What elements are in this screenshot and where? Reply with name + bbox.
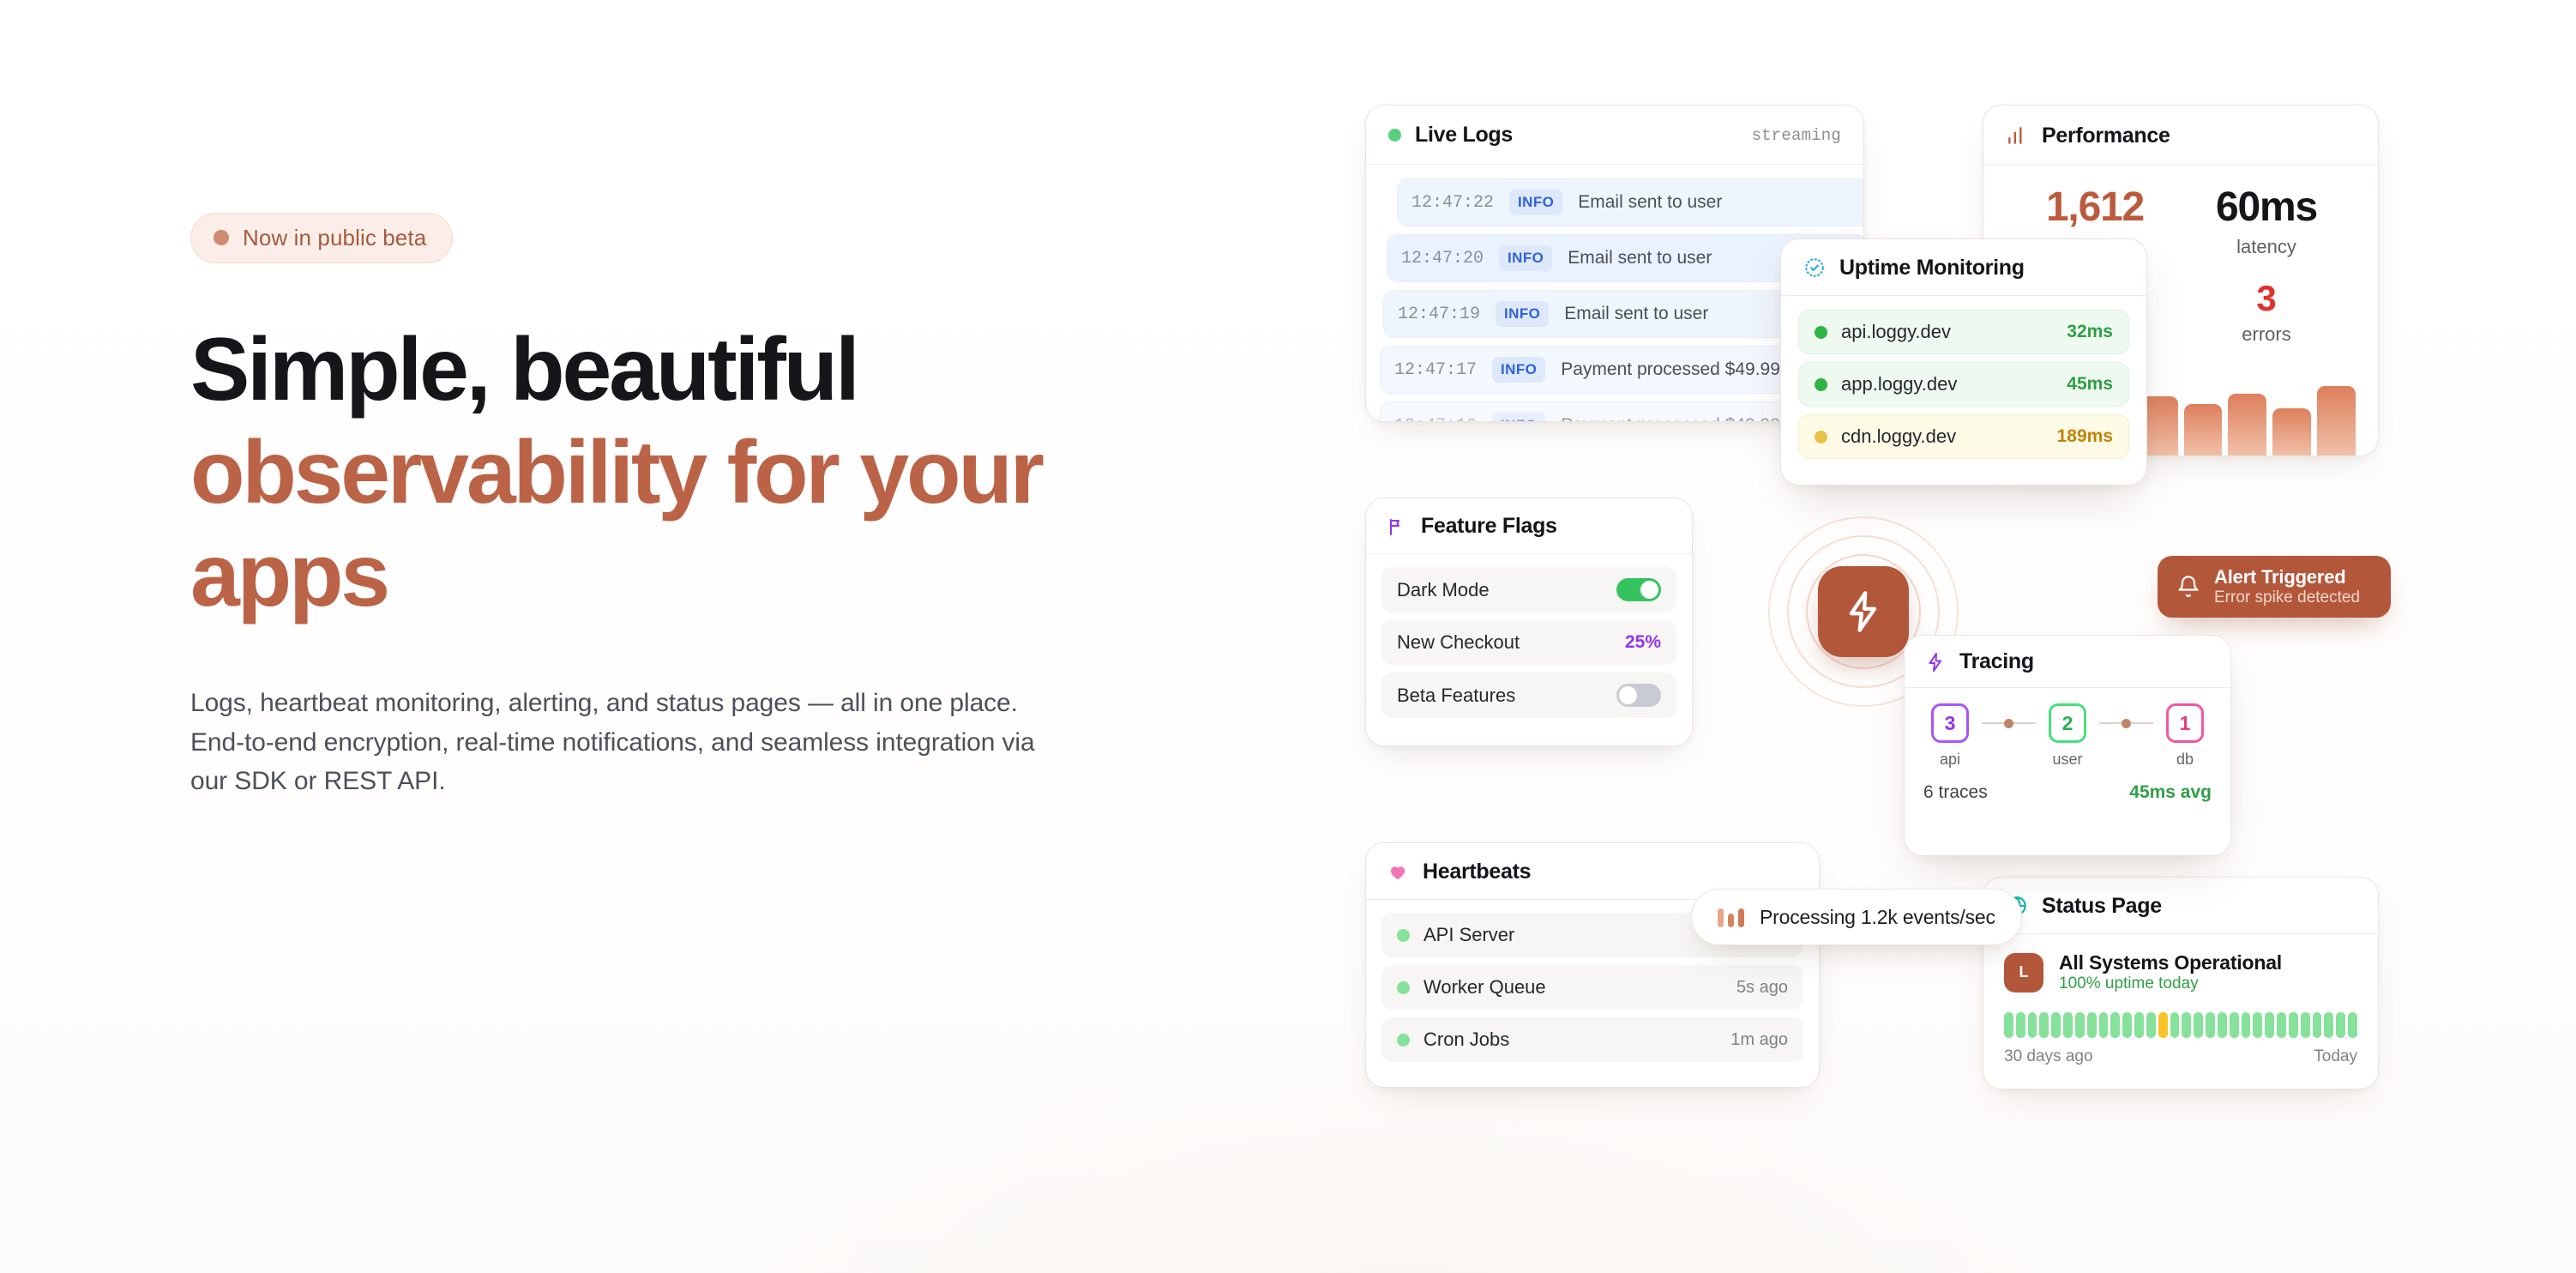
uptime-history-bar [2324, 1012, 2333, 1038]
feature-flag-name: Dark Mode [1397, 579, 1490, 601]
hero-stage: Now in public beta Simple, beautiful obs… [0, 0, 2576, 1273]
trace-node[interactable]: 1 db [2158, 703, 2212, 769]
feature-flags-card: Feature Flags Dark Mode New Checkout 25%… [1365, 498, 1693, 746]
uptime-history-bar [2004, 1012, 2013, 1038]
log-timestamp: 12:47:19 [1398, 305, 1480, 324]
bar-chart-icon [2006, 124, 2028, 147]
log-level-badge: INFO [1509, 190, 1562, 215]
tracing-body: 3 api 2 user 1 db 6 traces 45ms avg [1905, 688, 2230, 817]
lightning-bolt-icon [1818, 566, 1909, 657]
performance-bar [2272, 408, 2311, 456]
tracing-footer: 6 traces 45ms avg [1923, 782, 2212, 803]
heartbeats-card: Heartbeats API Server Worker Queue 5s ag… [1365, 842, 1820, 1088]
heartbeat-name: Worker Queue [1423, 976, 1546, 998]
feature-flag-row[interactable]: Dark Mode [1381, 567, 1676, 612]
flag-icon [1387, 516, 1407, 537]
log-level-badge: INFO [1496, 301, 1549, 327]
errors-label: errors [2181, 323, 2352, 346]
uptime-history-bar [2063, 1012, 2073, 1038]
uptime-history-bar [2028, 1012, 2037, 1038]
lightning-bolt-icon [1925, 652, 1946, 673]
uptime-host: cdn.loggy.dev [1841, 425, 1956, 448]
live-logs-title: Live Logs [1415, 124, 1513, 146]
uptime-latency: 45ms [2067, 374, 2113, 395]
status-dot-icon [1815, 431, 1827, 443]
bell-icon [2176, 575, 2200, 599]
tracing-header: Tracing [1905, 636, 2230, 688]
uptime-history-bar [2289, 1012, 2298, 1038]
trace-connector [1977, 703, 2041, 743]
log-message: Payment processed $49.99 [1561, 359, 1780, 380]
heartbeat-name: API Server [1423, 924, 1514, 946]
uptime-history-bars [2004, 1012, 2357, 1038]
log-message: Payment processed $49.99 [1561, 415, 1780, 422]
feature-flags-body: Dark Mode New Checkout 25% Beta Features [1366, 554, 1692, 739]
range-start: 30 days ago [2004, 1047, 2093, 1066]
status-range: 30 days ago Today [2004, 1047, 2357, 1066]
status-page-header: Status Page [1983, 878, 2378, 934]
equalizer-icon [1718, 907, 1744, 927]
performance-latency: 60ms latency 3 errors [2181, 186, 2352, 346]
trace-node-label: db [2176, 751, 2194, 769]
headline-line-1: Simple, beautiful [190, 325, 1202, 414]
heart-icon [1387, 860, 1409, 883]
status-page-card: Status Page L All Systems Operational 10… [1983, 877, 2379, 1089]
hero-subcopy: Logs, heartbeat monitoring, alerting, an… [190, 684, 1074, 801]
beta-features-toggle[interactable] [1616, 684, 1661, 707]
uptime-row[interactable]: app.loggy.dev 45ms [1798, 362, 2129, 407]
uptime-history-bar [2242, 1012, 2251, 1038]
uptime-history-bar [2182, 1012, 2191, 1038]
uptime-history-bar [2110, 1012, 2120, 1038]
headline-line-3: apps [190, 531, 1202, 620]
uptime-history-bar [2039, 1012, 2049, 1038]
hero-left-column: Now in public beta Simple, beautiful obs… [190, 213, 1202, 801]
trace-node-count: 2 [2049, 703, 2086, 743]
log-row[interactable]: 12:47:22 INFO Email sent to user [1397, 178, 1864, 226]
uptime-host: api.loggy.dev [1841, 321, 1951, 343]
uptime-latency: 32ms [2067, 322, 2113, 342]
status-page-body: L All Systems Operational 100% uptime to… [1983, 934, 2378, 1082]
range-end: Today [2314, 1047, 2357, 1066]
uptime-history-bar [2336, 1012, 2345, 1038]
trace-node-label: api [1940, 751, 1960, 769]
uptime-history-bar [2348, 1012, 2357, 1038]
alert-subtitle: Error spike detected [2214, 588, 2360, 606]
uptime-history-bar [2313, 1012, 2322, 1038]
uptime-history-bar [2087, 1012, 2097, 1038]
uptime-history-bar [2206, 1012, 2215, 1038]
uptime-header: Uptime Monitoring [1781, 239, 2146, 296]
uptime-latency: 189ms [2057, 426, 2113, 447]
avatar: L [2004, 953, 2043, 992]
uptime-history-bar [2158, 1012, 2168, 1038]
status-dot-icon [1397, 981, 1410, 994]
status-uptime: 100% uptime today [2059, 974, 2199, 992]
uptime-history-bar [2134, 1012, 2144, 1038]
log-message: Email sent to user [1578, 192, 1722, 213]
log-message: Email sent to user [1568, 248, 1712, 268]
status-dot-icon [1815, 378, 1827, 391]
uptime-history-bar [2122, 1012, 2132, 1038]
trace-node-count: 1 [2166, 703, 2204, 743]
status-dot-icon [1397, 1034, 1410, 1047]
errors-value: 3 [2181, 281, 2352, 317]
requests-value: 1,612 [2009, 186, 2181, 229]
uptime-history-bar [2075, 1012, 2085, 1038]
trace-count: 6 traces [1923, 782, 1988, 803]
feature-flag-row[interactable]: Beta Features [1381, 673, 1676, 718]
status-dot-icon [1815, 326, 1827, 339]
live-logs-status: streaming [1752, 126, 1841, 145]
log-level-badge: INFO [1499, 245, 1552, 271]
uptime-history-bar [2146, 1012, 2156, 1038]
processing-pill: Processing 1.2k events/sec [1691, 889, 2022, 945]
feature-flags-title: Feature Flags [1421, 516, 1557, 537]
performance-bar [2317, 386, 2356, 456]
heartbeat-ago: 1m ago [1730, 1030, 1788, 1050]
feature-flags-header: Feature Flags [1366, 498, 1692, 554]
beta-dot-icon [214, 230, 229, 245]
uptime-history-bar [2265, 1012, 2274, 1038]
log-message: Email sent to user [1564, 304, 1708, 324]
live-logs-header: Live Logs streaming [1366, 106, 1863, 165]
uptime-title: Uptime Monitoring [1839, 257, 2025, 279]
alert-triggered-toast[interactable]: Alert Triggered Error spike detected [2158, 556, 2391, 618]
status-page-title: Status Page [2042, 896, 2162, 917]
uptime-history-bar [2016, 1012, 2025, 1038]
tracing-title: Tracing [1959, 651, 2034, 673]
tracing-card: Tracing 3 api 2 user 1 db 6 t [1904, 635, 2231, 856]
feature-flag-name: Beta Features [1397, 685, 1515, 707]
latency-label: latency [2181, 236, 2352, 258]
trace-node[interactable]: 2 user [2041, 703, 2094, 769]
heartbeat-ago: 5s ago [1736, 978, 1788, 998]
trace-flow: 3 api 2 user 1 db [1923, 703, 2212, 769]
feature-flag-name: New Checkout [1397, 631, 1520, 654]
uptime-row[interactable]: cdn.loggy.dev 189ms [1798, 414, 2129, 459]
latency-value: 60ms [2181, 186, 2352, 229]
page-title: Simple, beautiful observability for your… [190, 325, 1202, 620]
log-level-badge: INFO [1492, 413, 1545, 422]
performance-title: Performance [2042, 125, 2170, 147]
performance-bar [2184, 404, 2223, 456]
status-summary: L All Systems Operational 100% uptime to… [2004, 951, 2357, 993]
heartbeat-name: Cron Jobs [1423, 1029, 1509, 1051]
log-timestamp: 12:47:22 [1411, 193, 1494, 213]
beta-badge-label: Now in public beta [243, 226, 426, 249]
trace-avg: 45ms avg [2129, 782, 2212, 803]
status-dot-icon [1388, 129, 1401, 142]
heartbeats-title: Heartbeats [1423, 861, 1531, 883]
uptime-host: app.loggy.dev [1841, 373, 1957, 395]
uptime-history-bar [2099, 1012, 2109, 1038]
status-headline: All Systems Operational [2059, 951, 2282, 974]
performance-header: Performance [1983, 106, 2378, 166]
uptime-row[interactable]: api.loggy.dev 32ms [1798, 310, 2129, 354]
uptime-history-bar [2170, 1012, 2180, 1038]
log-timestamp: 12:47:16 [1394, 416, 1477, 423]
processing-label: Processing 1.2k events/sec [1760, 906, 1995, 929]
uptime-history-bar [2277, 1012, 2286, 1038]
feature-flag-row[interactable]: New Checkout 25% [1381, 620, 1676, 665]
uptime-body: api.loggy.dev 32ms app.loggy.dev 45ms cd… [1781, 296, 2146, 482]
uptime-history-bar [2253, 1012, 2262, 1038]
rollout-percent: 25% [1625, 632, 1661, 653]
headline-line-2: observability for your [190, 428, 1202, 517]
heartbeat-row[interactable]: Cron Jobs 1m ago [1381, 1017, 1803, 1062]
uptime-history-bar [2301, 1012, 2310, 1038]
uptime-history-bar [2218, 1012, 2227, 1038]
log-timestamp: 12:47:17 [1394, 360, 1477, 380]
alert-title: Alert Triggered [2214, 566, 2345, 588]
beta-badge[interactable]: Now in public beta [190, 213, 453, 263]
trace-node-count: 3 [1931, 703, 1969, 743]
performance-bar [2228, 394, 2266, 456]
dark-mode-toggle[interactable] [1616, 578, 1661, 601]
verified-check-icon [1803, 256, 1826, 279]
uptime-history-bar [2194, 1012, 2203, 1038]
uptime-history-bar [2051, 1012, 2061, 1038]
trace-node-label: user [2052, 751, 2082, 769]
log-level-badge: INFO [1492, 357, 1545, 383]
log-timestamp: 12:47:20 [1401, 249, 1484, 268]
uptime-monitoring-card: Uptime Monitoring api.loggy.dev 32ms app… [1780, 238, 2147, 486]
status-dot-icon [1397, 929, 1410, 942]
uptime-history-bar [2230, 1012, 2239, 1038]
trace-connector [2094, 703, 2158, 743]
trace-node[interactable]: 3 api [1923, 703, 1977, 769]
heartbeat-row[interactable]: Worker Queue 5s ago [1381, 965, 1803, 1010]
